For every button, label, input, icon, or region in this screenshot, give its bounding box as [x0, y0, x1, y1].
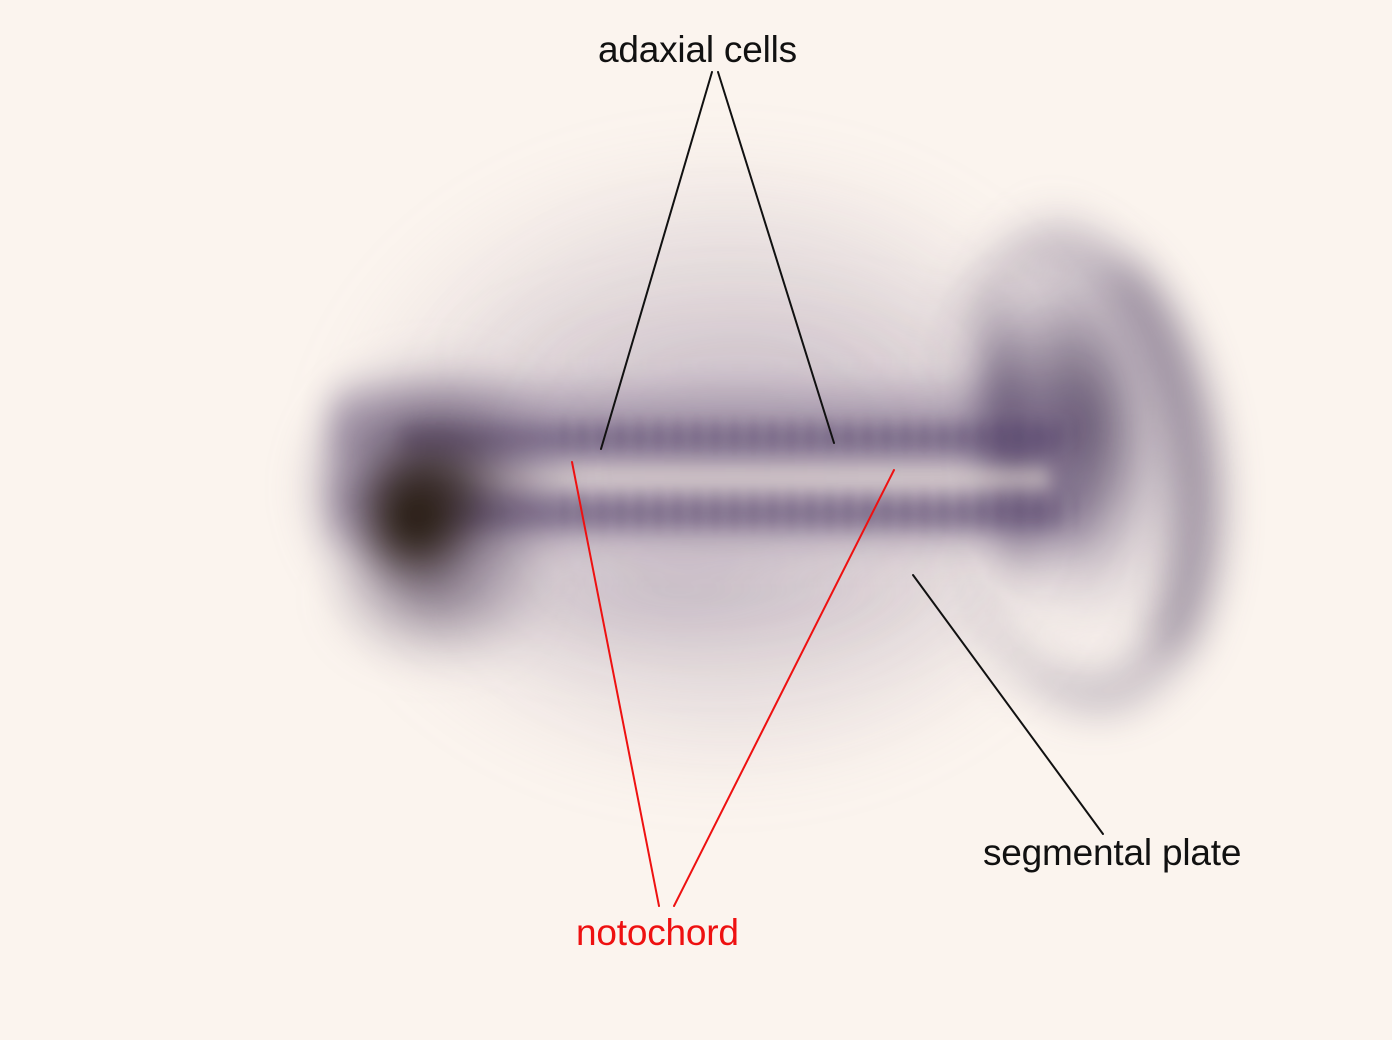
- label-notochord: notochord: [576, 914, 739, 951]
- annotation-overlay: adaxial cells notochord segmental plate: [0, 0, 1392, 1040]
- leader-line-notochord-left: [572, 462, 659, 906]
- leader-line-segmental-plate: [913, 575, 1103, 834]
- label-adaxial-cells: adaxial cells: [598, 31, 797, 68]
- leader-line-adaxial-right: [718, 72, 834, 443]
- leader-line-notochord-right: [674, 470, 894, 906]
- micrograph-canvas: adaxial cells notochord segmental plate: [0, 0, 1392, 1040]
- label-segmental-plate: segmental plate: [983, 834, 1241, 871]
- leader-line-adaxial-left: [601, 72, 712, 449]
- leader-line-group: [0, 0, 1392, 1040]
